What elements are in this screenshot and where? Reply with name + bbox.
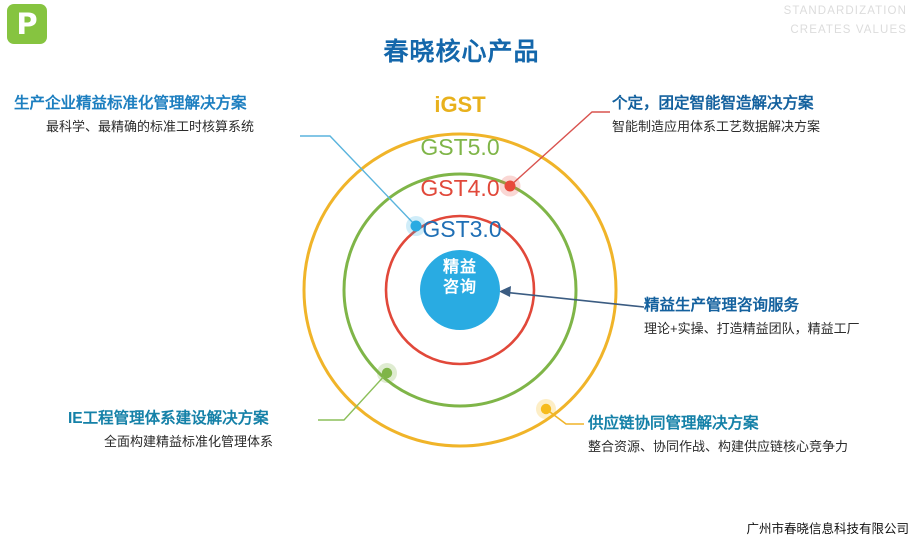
footer-company-name: 广州市春晓信息科技有限公司	[746, 518, 909, 537]
connector-arrowhead-icon	[499, 286, 511, 297]
annotation-bottom-left: IE工程管理体系建设解决方案 全面构建精益标准化管理体系	[68, 409, 273, 452]
node-green-icon[interactable]	[382, 368, 392, 378]
annotation-top-right-heading: 个定，团定智能智造解决方案	[612, 94, 820, 114]
slide-canvas: P STANDARDIZATION CREATES VALUES 春晓核心产品	[0, 0, 923, 549]
ring-label-igst: iGST	[360, 92, 560, 118]
core-label-line-2: 咨询	[420, 278, 500, 298]
annotation-top-left-heading: 生产企业精益标准化管理解决方案	[14, 94, 254, 114]
core-label-line-1: 精益	[420, 258, 500, 278]
annotation-bottom-right: 供应链协同管理解决方案 整合资源、协同作战、构建供应链核心竞争力	[588, 414, 848, 457]
annotation-top-right-subtext: 智能制造应用体系工艺数据解决方案	[612, 117, 820, 137]
annotation-middle-right: 精益生产管理咨询服务 理论+实操、打造精益团队，精益工厂	[644, 296, 860, 339]
core-label: 精益 咨询	[420, 258, 500, 298]
annotation-bottom-right-heading: 供应链协同管理解决方案	[588, 414, 848, 434]
annotation-top-right: 个定，团定智能智造解决方案 智能制造应用体系工艺数据解决方案	[612, 94, 820, 137]
connector-bottom-left	[318, 373, 387, 420]
annotation-bottom-left-subtext: 全面构建精益标准化管理体系	[104, 432, 273, 452]
annotation-bottom-right-subtext: 整合资源、协同作战、构建供应链核心竞争力	[588, 437, 848, 457]
ring-label-gst5: GST5.0	[360, 134, 560, 161]
annotation-middle-right-heading: 精益生产管理咨询服务	[644, 296, 860, 316]
annotation-top-left-subtext: 最科学、最精确的标准工时核算系统	[46, 117, 254, 137]
ring-label-gst3: GST3.0	[362, 216, 562, 243]
node-yellow-icon[interactable]	[541, 404, 551, 414]
connector-middle-right	[503, 292, 644, 307]
annotation-top-left: 生产企业精益标准化管理解决方案 最科学、最精确的标准工时核算系统	[14, 94, 254, 137]
ring-label-gst4: GST4.0	[360, 175, 560, 202]
annotation-bottom-left-heading: IE工程管理体系建设解决方案	[68, 409, 273, 429]
annotation-middle-right-subtext: 理论+实操、打造精益团队，精益工厂	[644, 319, 860, 339]
